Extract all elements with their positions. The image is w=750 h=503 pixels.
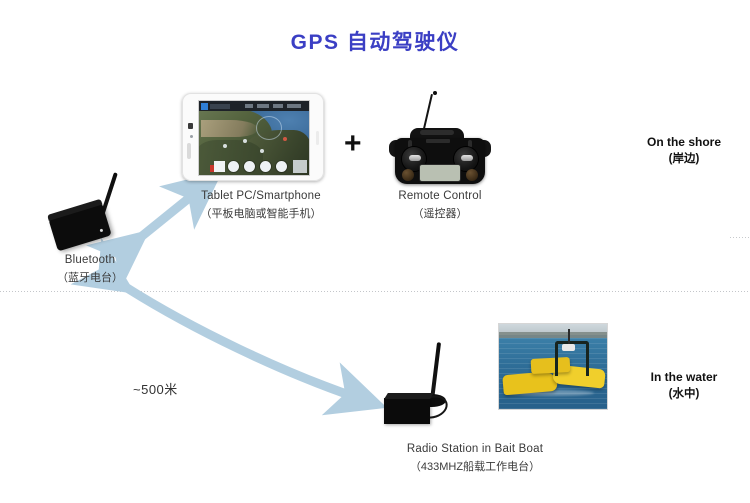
bluetooth-body-top	[47, 199, 102, 221]
tablet-volume-key	[187, 143, 191, 159]
radio-station-caption: Radio Station in Bait Boat （433MHZ船载工作电台…	[335, 441, 615, 476]
zone-shore-en: On the shore	[620, 133, 748, 151]
tablet-sd-slot	[188, 123, 193, 129]
topbar-item-icon[interactable]	[257, 104, 269, 108]
remote-caption: Remote Control （遥控器）	[330, 188, 550, 223]
topbar-item-icon[interactable]	[287, 104, 301, 108]
map-waypoint-pin[interactable]	[260, 149, 264, 153]
map-shoreline	[201, 120, 258, 137]
zone-water-en: In the water	[620, 368, 748, 386]
app-title-pill	[210, 104, 230, 109]
map-tool-waypoint-icon[interactable]	[260, 161, 271, 172]
bluetooth-module-icon[interactable]	[36, 172, 142, 258]
photo-boat-equipment-pod	[562, 344, 575, 352]
map-tool-home-icon[interactable]	[214, 161, 225, 172]
map-boat-marker[interactable]	[283, 137, 287, 141]
map-tool-layers-icon[interactable]	[244, 161, 255, 172]
map-toolbar-bottom[interactable]	[218, 161, 291, 173]
radio-station-label-cn: （433MHZ船载工作电台）	[335, 459, 615, 476]
remote-label-cn: （遥控器）	[330, 206, 550, 223]
radio-station-icon[interactable]	[374, 344, 480, 426]
zone-shore-cn: (岸边)	[620, 151, 748, 168]
page-title: GPS 自动驾驶仪	[0, 26, 750, 56]
zone-label-shore: On the shore (岸边)	[620, 133, 748, 168]
distance-label: ~500米	[133, 379, 178, 398]
tablet-screen[interactable]	[198, 100, 310, 176]
rc-brand-label	[426, 139, 450, 143]
tablet-camera	[190, 135, 193, 138]
map-route-path	[256, 116, 282, 140]
radio-station-body-top	[384, 393, 434, 399]
shore-water-divider	[0, 291, 750, 292]
radio-station-antenna	[430, 342, 441, 400]
app-top-bar	[199, 101, 309, 111]
bait-boat-photo	[498, 323, 608, 410]
bluetooth-caption: Bluetooth （蓝牙电台）	[0, 252, 180, 287]
rc-lcd-screen	[420, 165, 460, 181]
rc-antenna-tip	[433, 91, 437, 95]
bluetooth-body	[48, 203, 111, 252]
map-scale-control[interactable]	[293, 160, 307, 173]
map-view[interactable]	[199, 111, 309, 175]
divider-fragment-right	[730, 237, 750, 238]
photo-boat-mast	[568, 329, 570, 344]
bluetooth-label-en: Bluetooth	[0, 252, 180, 270]
rc-trim-knob-left[interactable]	[402, 169, 414, 181]
topbar-item-icon[interactable]	[245, 104, 253, 108]
rc-transmitter-icon[interactable]	[386, 95, 494, 185]
zone-water-cn: (水中)	[620, 386, 748, 403]
map-tool-locate-icon[interactable]	[228, 161, 239, 172]
remote-label-en: Remote Control	[330, 188, 550, 206]
rc-trim-knob-right[interactable]	[466, 169, 478, 181]
zone-label-water: In the water (水中)	[620, 368, 748, 403]
map-tool-settings-icon[interactable]	[276, 161, 287, 172]
diagram-canvas: GPS 自动驾驶仪	[0, 0, 750, 503]
radio-station-label-en: Radio Station in Bait Boat	[335, 441, 615, 459]
topbar-item-icon[interactable]	[273, 104, 283, 108]
radio-station-body	[384, 398, 430, 424]
tablet-device-icon[interactable]	[182, 93, 324, 181]
tablet-side-key	[316, 131, 319, 145]
app-logo-icon	[201, 103, 208, 110]
bluetooth-label-cn: （蓝牙电台）	[0, 270, 180, 287]
plus-symbol: +	[344, 129, 362, 159]
